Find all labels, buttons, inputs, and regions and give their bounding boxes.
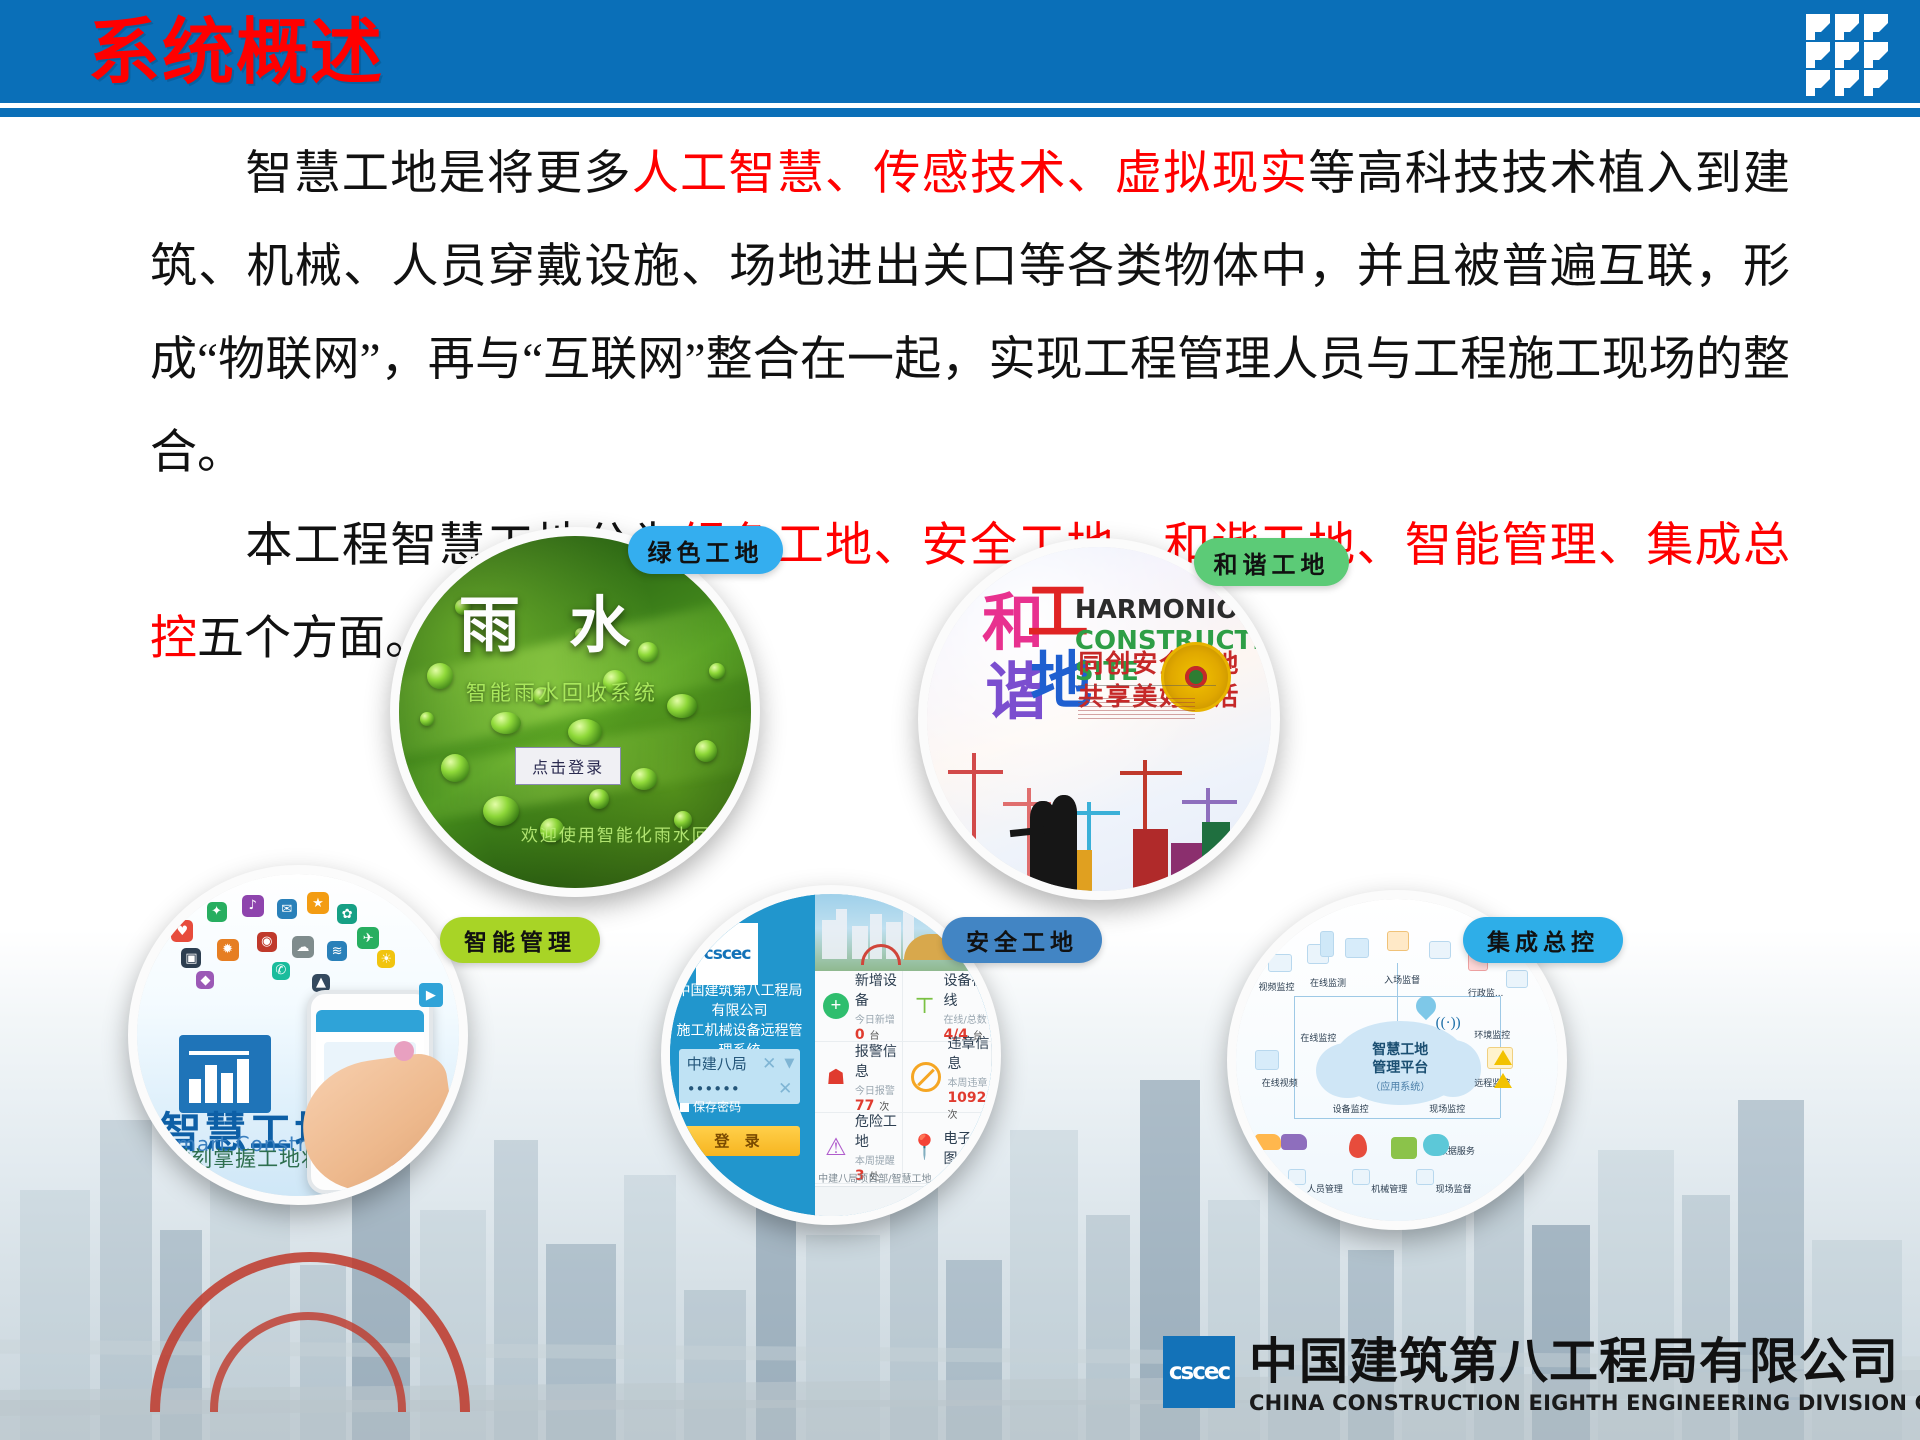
person-node (1345, 938, 1369, 958)
header-divider-blue (0, 108, 1920, 117)
username-value: 中建八局 (687, 1053, 747, 1074)
clear-icon[interactable]: ✕ (762, 1054, 776, 1074)
gear-icon: ✿ (337, 904, 357, 924)
platform-subtitle: （应用系统） (1342, 1079, 1458, 1097)
warning-triangle-icon: ⚠ (823, 1135, 849, 1161)
camera-node (1268, 954, 1292, 972)
warning-triangle-icon (1494, 1050, 1512, 1065)
pin-icon: ◉ (257, 932, 277, 952)
cscec-logo-icon: cscec (696, 923, 758, 985)
node-label: 在线监控 (1300, 1031, 1336, 1044)
plus-circle-icon: + (823, 993, 849, 1019)
map-pin-icon: 📍 (911, 1135, 937, 1161)
wifi-antenna-icon: ((·)) (1436, 1015, 1454, 1029)
tag-icon: ◆ (196, 971, 214, 989)
cloud-platform-label: 智慧工地 管理平台 （应用系统） (1342, 1041, 1458, 1097)
water-drop (491, 712, 521, 734)
label-pill-smart-management[interactable]: 智能管理 (440, 917, 600, 963)
water-drop (695, 740, 717, 762)
node-label: 在线监测 (1310, 976, 1346, 989)
company-line-1: 中国建筑第八工程局有限公司 (677, 983, 803, 1019)
circle-image-harmonious-site[interactable]: 和 工 谐 地 HARMONIOUS CONSTRUCTION SITE 同创安… (918, 538, 1280, 900)
tile-title: 电子地图 (943, 1128, 991, 1168)
platform-title-2: 管理平台 (1372, 1060, 1428, 1076)
chat-icon: ✆ (272, 962, 290, 980)
worker-silhouette (1051, 795, 1077, 891)
building (822, 920, 836, 959)
play-icon: ▶ (419, 983, 443, 1007)
connector-line (1294, 1118, 1500, 1119)
forbidden-icon (911, 1062, 941, 1092)
hero-caption: 全球化，5月1 (919, 899, 982, 914)
building-silhouette (1202, 822, 1230, 891)
tower-crane-node (1320, 931, 1334, 957)
sun-icon: ☀ (377, 950, 395, 968)
tile-title: 报警信息 (855, 1041, 903, 1081)
tile-value: 1092 (947, 1090, 986, 1106)
tile-title: 新增设备 (855, 970, 903, 1010)
cscec-mark-text: cscec (1169, 1359, 1229, 1385)
server-icon (1288, 1169, 1306, 1185)
mixer-truck-icon (1281, 1134, 1307, 1150)
login-button[interactable]: 登 录 (679, 1126, 801, 1156)
p2-seg3: 五个方面。 (197, 613, 432, 665)
tile-equipment-online[interactable]: ⊤ 设备在线 在线/总数 4/4 台 (903, 971, 992, 1042)
node-label: 视频监控 (1259, 980, 1295, 993)
warning-triangle-icon (1494, 1073, 1512, 1088)
p1-seg2-highlight: 人工智慧、传感技术、虚拟现实 (632, 148, 1308, 200)
building-silhouette (1171, 843, 1202, 891)
star-icon: ★ (307, 892, 329, 914)
chevron-down-icon[interactable]: ▼ (784, 1056, 794, 1071)
company-name-en: CHINA CONSTRUCTION EIGHTH ENGINEERING DI… (1249, 1391, 1920, 1416)
node-label: 在线视频 (1262, 1076, 1298, 1089)
tile-sub: 今日报警 (855, 1082, 903, 1097)
water-drop (568, 719, 602, 745)
company-name-cn: 中国建筑第八工程局有限公司 (1249, 1334, 1920, 1389)
tile-sub: 本周提醒 (855, 1152, 903, 1167)
paragraph-1: 智慧工地是将更多人工智慧、传感技术、虚拟现实等高科技技术植入到建筑、机械、人员穿… (150, 128, 1790, 500)
icon-cloud-cluster: ♥ ✦ ♪ ✉ ★ ✿ ▣ ✹ ◉ ☁ ≋ ✈ ☀ ◆ ✆ ▲ (156, 890, 407, 1006)
leaf-icon: ✦ (207, 902, 227, 922)
slide-root: 系统概述 智慧工地是将更多人工智慧、传感技术、虚拟现实等高科技技术植入到建筑、机… (0, 0, 1920, 1440)
node-label: 环境监控 (1474, 1028, 1510, 1041)
server-icon (1416, 1169, 1434, 1185)
heart-icon: ♥ (171, 920, 193, 942)
phone-app-header (316, 1010, 424, 1032)
tile-title: 设备在线 (943, 970, 991, 1010)
lock-icon: ▲ (312, 974, 330, 992)
poster-en-line1: HARMONIOUS (1075, 595, 1271, 625)
tile-alarm-info[interactable]: ☗ 报警信息 今日报警 77 次 (815, 1042, 904, 1113)
remember-password-checkbox[interactable]: 保存密码 (680, 1098, 741, 1115)
crane-icon: ⊤ (911, 993, 937, 1019)
rainwater-footnote: 欢迎使用智能化雨水回收 (521, 821, 730, 846)
monitor-node (1506, 970, 1528, 988)
building-silhouette (1133, 829, 1167, 891)
platform-title-1: 智慧工地 (1372, 1042, 1428, 1058)
poster-microtext-line (1078, 685, 1216, 688)
node-label: 现场监督 (1436, 1182, 1472, 1195)
water-drop (709, 663, 725, 679)
rainwater-title: 雨 水 (459, 575, 644, 664)
plane-icon: ✈ (357, 927, 379, 949)
poster-microtext-block (1078, 698, 1195, 720)
tile-sub: 在线/总数 (943, 1011, 991, 1026)
node-label: 机械管理 (1371, 1182, 1407, 1195)
node-label: 设备监控 (1333, 1102, 1369, 1115)
water-drop (427, 663, 453, 689)
worker-node (1387, 931, 1409, 951)
cscec-mark-icon: cscec (1163, 1336, 1235, 1408)
circle-image-green-site[interactable]: 雨 水 智能雨水回收系统 点击登录 欢迎使用智能化雨水回收 (390, 527, 760, 897)
label-pill-safe-site[interactable]: 安全工地 (942, 917, 1102, 963)
video-node (1255, 1050, 1279, 1070)
node-label: 行政监... (1468, 986, 1504, 999)
dashboard-breadcrumb: 中建八局项目部/智慧工地 (818, 1170, 931, 1185)
tile-sub: 本周违章 (947, 1074, 991, 1089)
node-label: 入场监督 (1384, 973, 1420, 986)
music-icon: ♪ (242, 895, 264, 917)
rainwater-subtitle: 智能雨水回收系统 (466, 677, 658, 707)
truck-icon (1255, 1134, 1281, 1150)
tile-title: 违章信息 (947, 1033, 991, 1073)
server-icon (1352, 1169, 1370, 1185)
bulb-icon: ✹ (217, 939, 239, 961)
label-pill-integrated-control[interactable]: 集成总控 (1463, 917, 1623, 963)
download-box-icon (1391, 1137, 1417, 1159)
cloud-icon: ☁ (292, 936, 314, 958)
password-value: •••••• (687, 1080, 740, 1098)
rainwater-login-button[interactable]: 点击登录 (515, 747, 621, 785)
tile-violation-info[interactable]: 违章信息 本周违章 1092 次 (903, 1042, 992, 1113)
p1-seg1: 智慧工地是将更多 (244, 148, 632, 200)
building (836, 909, 847, 958)
remember-label: 保存密码 (693, 1100, 741, 1114)
building-silhouette (968, 857, 992, 891)
tile-title: 危险工地 (855, 1111, 903, 1151)
water-drop (420, 712, 434, 726)
company-logo: cscec 中国建筑第八工程局有限公司 CHINA CONSTRUCTION E… (1163, 1334, 1908, 1434)
tile-sub: 今日新增 (855, 1011, 903, 1026)
camera-icon: ▣ (181, 948, 201, 968)
map-pin-icon (1349, 1134, 1367, 1158)
clear-icon[interactable]: ✕ (778, 1079, 792, 1099)
label-pill-green-site[interactable]: 绿色工地 (628, 526, 783, 574)
checkbox-box[interactable] (680, 1103, 689, 1112)
node-label: 人员管理 (1307, 1182, 1343, 1195)
login-panel: cscec 中国建筑第八工程局有限公司 施工机械设备远程管理系统 中建八局 ✕ … (670, 894, 815, 1216)
cloud-storage-icon (1423, 1134, 1449, 1156)
mail-icon: ✉ (277, 899, 297, 919)
tile-new-equipment[interactable]: + 新增设备 今日新增 0 台 (815, 971, 904, 1042)
page-title: 系统概述 (88, 8, 384, 96)
circle-image-smart-management[interactable]: ♥ ✦ ♪ ✉ ★ ✿ ▣ ✹ ◉ ☁ ≋ ✈ ☀ ◆ ✆ ▲ (128, 865, 468, 1205)
gate-node (1429, 941, 1451, 959)
connector-line (1294, 996, 1295, 1118)
wifi-icon: ≋ (327, 941, 347, 961)
water-drop (667, 694, 697, 718)
dashboard-tabbar[interactable] (815, 1186, 992, 1216)
grid-9-squares-icon (1804, 10, 1890, 96)
alarm-icon: ☗ (823, 1064, 849, 1090)
node-label: 现场监控 (1429, 1102, 1465, 1115)
label-pill-harmonious-site[interactable]: 和谐工地 (1194, 538, 1349, 586)
